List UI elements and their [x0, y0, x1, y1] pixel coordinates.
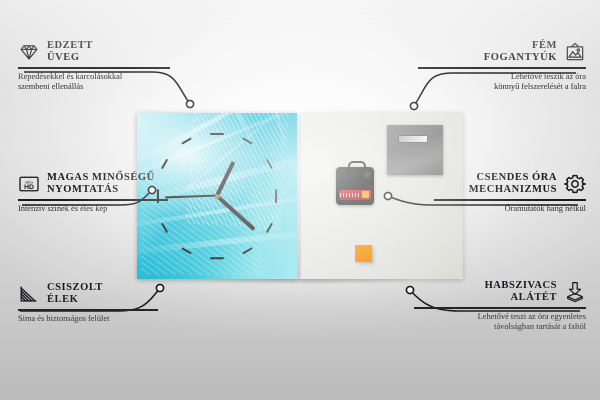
clock-tick	[182, 247, 192, 254]
callout-title: HABSZIVACS ALÁTÉT	[485, 280, 557, 303]
callout-subtitle-line1: Intenzív színek és éles kép	[18, 204, 168, 214]
foam-pad-icon	[564, 281, 586, 303]
callout-header: EDZETT ÜVEG	[18, 40, 170, 63]
callout-subtitle-line1: Óramutatók hang nélkül	[434, 204, 586, 214]
metal-hanger-plate	[387, 125, 443, 175]
callout-subtitle-line1: Lehetővé teszik az óra	[418, 72, 586, 82]
battery	[339, 190, 371, 200]
callout-subtitle-line1: Repedésekkel és karcolásokkal	[18, 72, 170, 82]
callout-header: HABSZIVACS ALÁTÉT	[414, 280, 586, 303]
clock-hub	[215, 194, 220, 199]
callout-title: FÉM FOGANTYÚK	[484, 40, 557, 63]
callout-polished-edges: CSISZOLT ÉLEK Sima és biztonságos felüle…	[18, 282, 158, 324]
clock-tick	[161, 222, 168, 232]
callout-divider	[414, 307, 586, 309]
clock-tick	[242, 137, 252, 144]
callout-header: ultra HD MAGAS MINŐSÉGŰ NYOMTATÁS	[18, 172, 168, 195]
ultra-hd-icon-bottom-text: HD	[24, 183, 34, 190]
callout-title: MAGAS MINŐSÉGŰ NYOMTATÁS	[47, 172, 155, 195]
picture-hanger-icon	[564, 41, 586, 63]
callout-metal-hangers: FÉM FOGANTYÚK Lehetővé teszik az óra kön…	[418, 40, 586, 92]
callout-foam-pad: HABSZIVACS ALÁTÉT Lehetővé teszi az óra …	[414, 280, 586, 332]
product-image-group	[137, 113, 463, 279]
clock-tick	[161, 159, 168, 169]
clock-tick	[182, 137, 192, 144]
clock-tick	[275, 189, 277, 203]
clock-tick	[210, 257, 224, 259]
callout-subtitle-line2: könnyű felszerelését a falra	[418, 82, 586, 92]
clock-mechanism	[336, 167, 374, 205]
callout-subtitle-line1: Lehetővé teszi az óra egyenletes	[414, 312, 586, 322]
callout-header: FÉM FOGANTYÚK	[418, 40, 586, 63]
infographic-canvas: EDZETT ÜVEG Repedésekkel és karcolásokka…	[0, 0, 600, 400]
mechanism-hanging-loop	[348, 161, 366, 172]
clock-second-hand	[165, 195, 217, 198]
callout-silent-clock-mechanism: CSENDES ÓRA MECHANIZMUS Óramutatók hang …	[434, 172, 586, 214]
hanger-slot	[398, 135, 428, 143]
battery-label	[340, 193, 360, 197]
clock-tick	[242, 247, 252, 254]
callout-high-quality-print: ultra HD MAGAS MINŐSÉGŰ NYOMTATÁS Intenz…	[18, 172, 168, 214]
battery-plus-terminal	[362, 191, 369, 198]
foam-pad-sample	[355, 245, 372, 262]
callout-subtitle-line1: Sima és biztonságos felület	[18, 314, 158, 324]
callout-divider	[18, 309, 158, 311]
callout-header: CSISZOLT ÉLEK	[18, 282, 158, 305]
callout-tempered-glass: EDZETT ÜVEG Repedésekkel és karcolásokka…	[18, 40, 170, 92]
clock-tick	[266, 159, 273, 169]
callout-header: CSENDES ÓRA MECHANIZMUS	[434, 172, 586, 195]
callout-divider	[418, 67, 586, 69]
callout-title: CSISZOLT ÉLEK	[47, 282, 103, 305]
callout-divider	[18, 67, 170, 69]
connector-endpoint-metal-hangers	[410, 102, 417, 109]
diamond-icon	[18, 41, 40, 63]
callout-subtitle-line2: szembeni ellenállás	[18, 82, 170, 92]
callout-subtitle-line2: távolságban tartását a faltól	[414, 322, 586, 332]
clock-tick	[266, 222, 273, 232]
mechanism-setting-dial	[364, 171, 371, 178]
clock-hour-hand	[215, 161, 236, 197]
callout-title: CSENDES ÓRA MECHANIZMUS	[469, 172, 557, 195]
connector-endpoint-tempered-glass	[186, 100, 193, 107]
ultra-hd-icon: ultra HD	[18, 173, 40, 195]
clock-minute-hand	[216, 195, 256, 231]
gear-icon	[564, 173, 586, 195]
callout-title: EDZETT ÜVEG	[47, 40, 93, 63]
callout-divider	[434, 199, 586, 201]
clock-tick	[210, 133, 224, 135]
callout-divider	[18, 199, 168, 201]
sanded-edge-icon	[18, 283, 40, 305]
